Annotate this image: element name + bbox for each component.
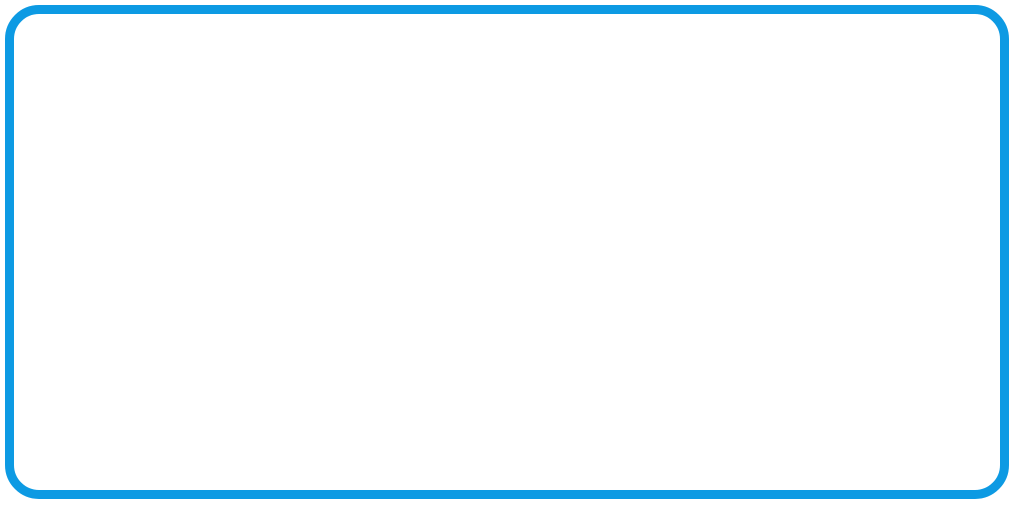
logo-wing-icon [352,186,547,286]
connector-soumu-eisei [200,306,300,368]
node-kenko-hoken-kyokai[interactable]: 全国健康保健 協会 [28,362,259,478]
logo-year: 2025 [701,182,737,199]
connector-hoken-mental [750,305,780,368]
node-sangyoui-line-2: 衛生管理者 [452,103,610,146]
diagram-title: 健康経営 WG [352,300,742,344]
logo-text-group: 2025 健康経営優良法人 KENKO Investment for Healt… [543,186,739,287]
node-hoken-shidoubu[interactable]: 保健指導部 [765,181,997,308]
node-sangyoui[interactable]: 産業医 衛生管理者 [417,32,646,164]
node-eisei-label: 衛生委員会 [321,400,469,440]
logo-rank-label: ホワイト500 [543,264,735,287]
logo-row: 2025 健康経営優良法人 KENKO Investment for Healt… [352,186,742,294]
node-kyokai-line-1: 全国健康保健 [55,378,232,418]
node-soumu-label: 総務・人事 [160,224,298,267]
node-mental-line-1: メンタル [640,382,746,418]
node-kyokai-line-2: 協会 [114,422,173,462]
logo-english-title: KENKO Investment for Health [543,228,735,240]
node-hoken-label: 保健指導部 [802,223,960,266]
node-mental-support-center[interactable]: メンタル サポートセンター [575,362,812,478]
node-soumu[interactable]: 総務・人事 [113,183,344,308]
logo-category-banner: 大規模法人部門 [543,244,735,263]
node-eisei-iinkai[interactable]: 衛生委員会 [277,362,513,478]
kenko-investment-logo: 2025 健康経営優良法人 KENKO Investment for Healt… [352,186,742,336]
node-sangyoui-line-1: 産業医 [484,50,579,93]
node-mental-line-2: サポートセンター [587,422,799,458]
logo-japanese-title: 健康経営優良法人 [543,202,739,225]
diagram-canvas: 2025 健康経営優良法人 KENKO Investment for Healt… [0,0,1024,514]
